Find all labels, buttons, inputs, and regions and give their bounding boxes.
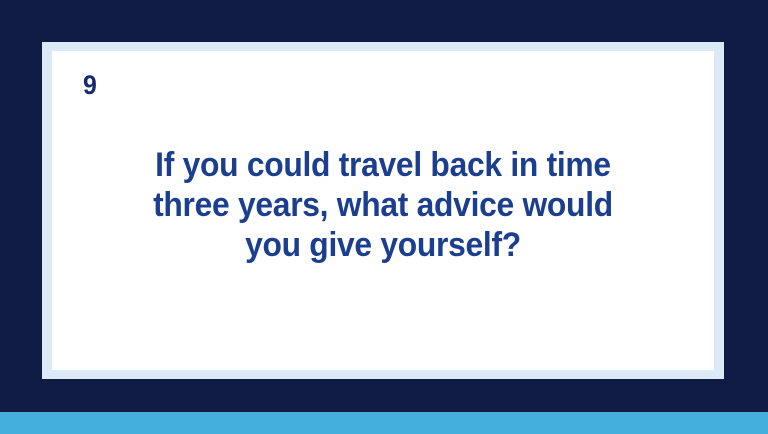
bottom-accent-bar xyxy=(0,412,768,434)
slide-canvas: 9 If you could travel back in time three… xyxy=(0,0,768,434)
question-text-block: If you could travel back in time three y… xyxy=(52,145,714,265)
content-card-frame: 9 If you could travel back in time three… xyxy=(42,42,724,379)
question-line-1: If you could travel back in time xyxy=(74,145,693,185)
content-card: 9 If you could travel back in time three… xyxy=(52,51,714,370)
question-line-3: you give yourself? xyxy=(74,225,693,265)
slide-number-label: 9 xyxy=(83,70,96,100)
question-line-2: three years, what advice would xyxy=(74,185,693,225)
